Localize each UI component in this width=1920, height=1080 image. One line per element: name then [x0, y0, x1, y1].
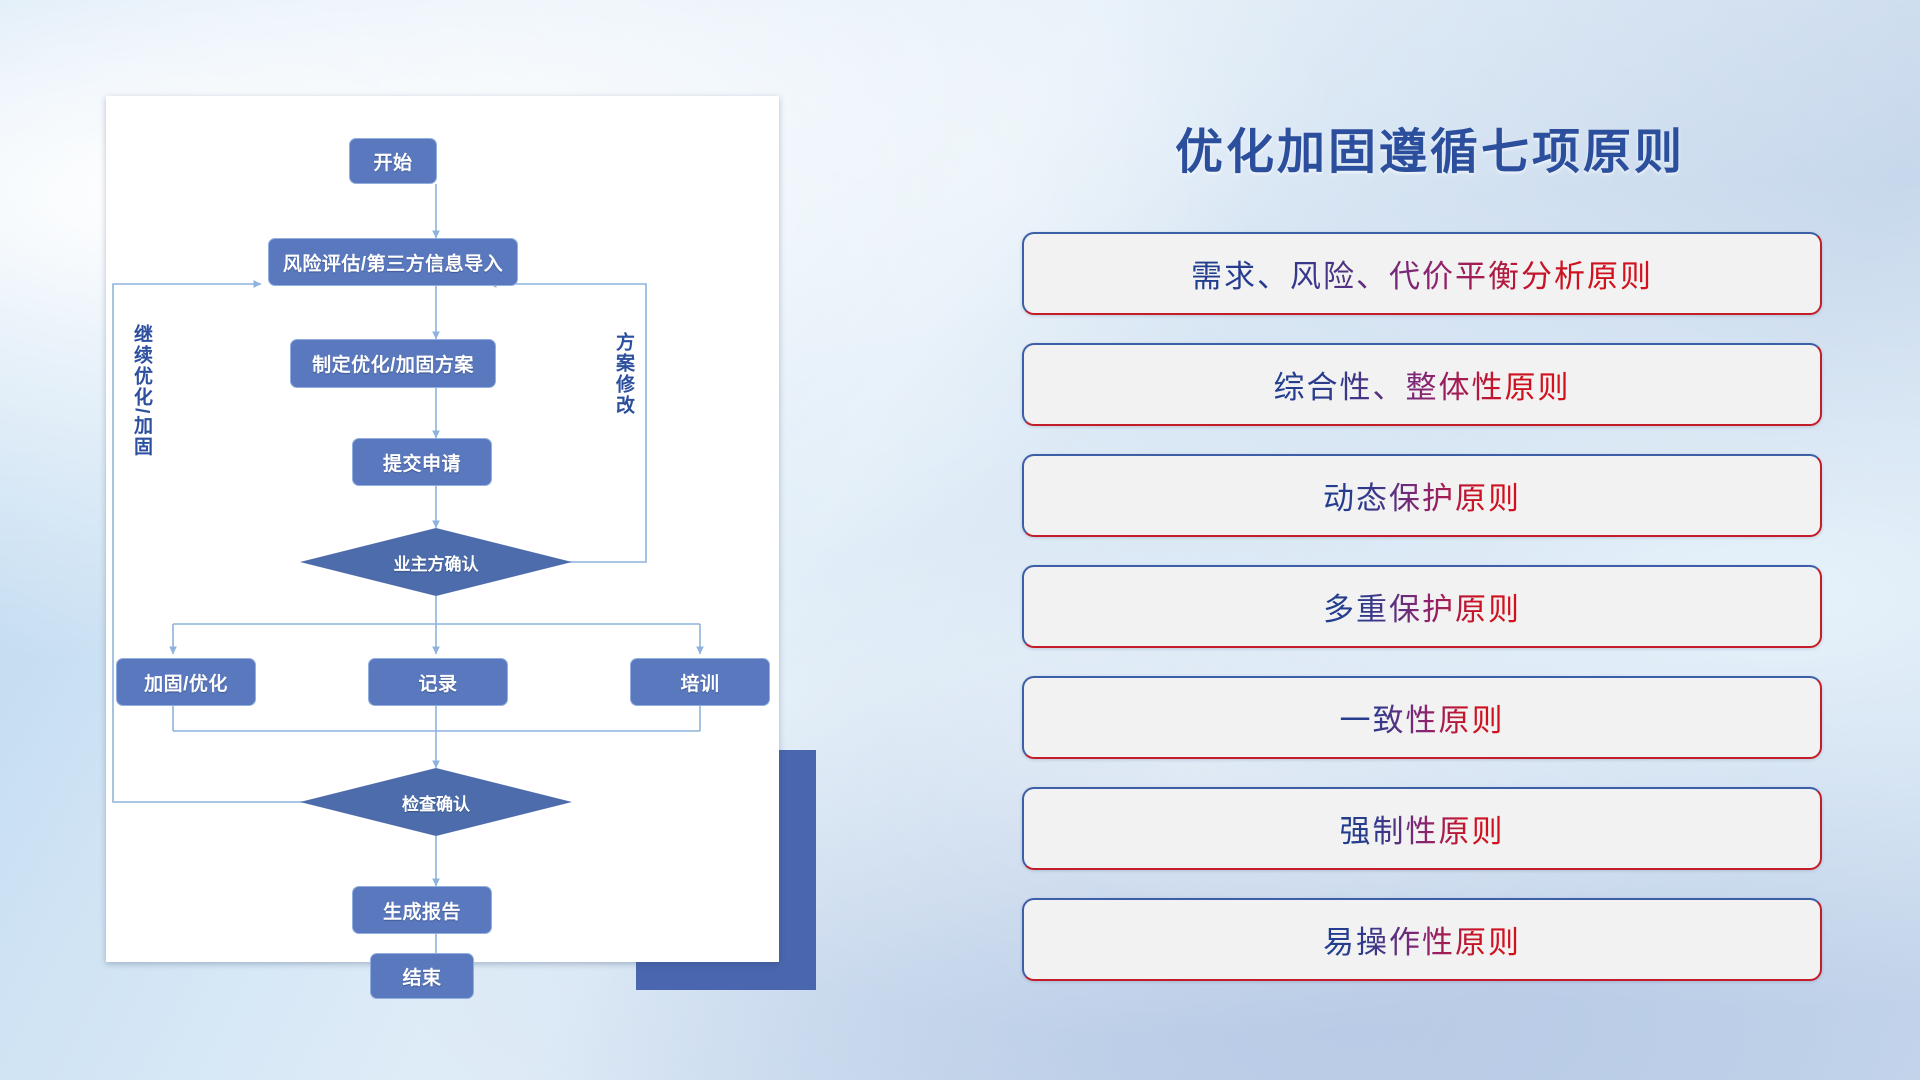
flow-node-record[interactable]: 记录 — [368, 658, 508, 706]
principle-label: 强制性原则 — [1340, 806, 1505, 851]
flow-node-label: 业主方确认 — [394, 550, 479, 575]
principles-list: 需求、风险、代价平衡分析原则 综合性、整体性原则 动态保护原则 多重保护原则 一… — [1022, 232, 1822, 1009]
flow-node-label: 提交申请 — [383, 449, 461, 476]
flow-node-label: 记录 — [418, 669, 457, 696]
principle-label: 多重保护原则 — [1323, 584, 1521, 629]
panel-title: 优化加固遵循七项原则 — [1020, 112, 1840, 182]
flowchart-card: 开始 风险评估/第三方信息导入 制定优化/加固方案 提交申请 业主方确认 加固/… — [106, 96, 779, 962]
principle-label: 动态保护原则 — [1323, 473, 1521, 518]
flow-node-label: 培训 — [680, 669, 719, 696]
flowchart: 开始 风险评估/第三方信息导入 制定优化/加固方案 提交申请 业主方确认 加固/… — [106, 96, 779, 962]
principle-label: 需求、风险、代价平衡分析原则 — [1191, 251, 1653, 296]
edge-label-plan-revision: 方案修改 — [610, 332, 637, 416]
principle-item-2[interactable]: 综合性、整体性原则 — [1022, 343, 1822, 426]
flow-node-label: 检查确认 — [402, 790, 470, 815]
flow-node-generate-report[interactable]: 生成报告 — [352, 886, 492, 934]
principles-panel: 优化加固遵循七项原则 需求、风险、代价平衡分析原则 综合性、整体性原则 动态保护… — [1020, 0, 1880, 1080]
flow-node-inspection-confirm[interactable]: 检查确认 — [300, 768, 572, 836]
principle-item-1[interactable]: 需求、风险、代价平衡分析原则 — [1022, 232, 1822, 315]
principle-item-4[interactable]: 多重保护原则 — [1022, 565, 1822, 648]
principle-label: 易操作性原则 — [1323, 917, 1521, 962]
edge-label-continue-optimize: 继续优化/加固 — [128, 324, 155, 457]
principle-label: 综合性、整体性原则 — [1274, 362, 1571, 407]
flow-node-plan[interactable]: 制定优化/加固方案 — [290, 339, 496, 388]
flow-node-label: 生成报告 — [383, 897, 461, 924]
flow-node-label: 加固/优化 — [144, 669, 228, 696]
principle-item-5[interactable]: 一致性原则 — [1022, 676, 1822, 759]
flow-node-training[interactable]: 培训 — [630, 658, 770, 706]
flow-node-owner-confirm[interactable]: 业主方确认 — [300, 528, 572, 596]
flow-node-label: 开始 — [373, 148, 412, 175]
flow-node-label: 制定优化/加固方案 — [312, 350, 474, 377]
principle-item-3[interactable]: 动态保护原则 — [1022, 454, 1822, 537]
flow-node-risk-assessment[interactable]: 风险评估/第三方信息导入 — [268, 238, 518, 286]
flow-node-reinforce[interactable]: 加固/优化 — [116, 658, 256, 706]
flow-node-end[interactable]: 结束 — [370, 953, 474, 999]
flow-node-start[interactable]: 开始 — [349, 138, 437, 184]
principle-item-7[interactable]: 易操作性原则 — [1022, 898, 1822, 981]
flow-node-label: 风险评估/第三方信息导入 — [283, 249, 503, 276]
flow-node-label: 结束 — [402, 963, 441, 990]
principle-label: 一致性原则 — [1340, 695, 1505, 740]
flow-node-submit-application[interactable]: 提交申请 — [352, 438, 492, 486]
principle-item-6[interactable]: 强制性原则 — [1022, 787, 1822, 870]
